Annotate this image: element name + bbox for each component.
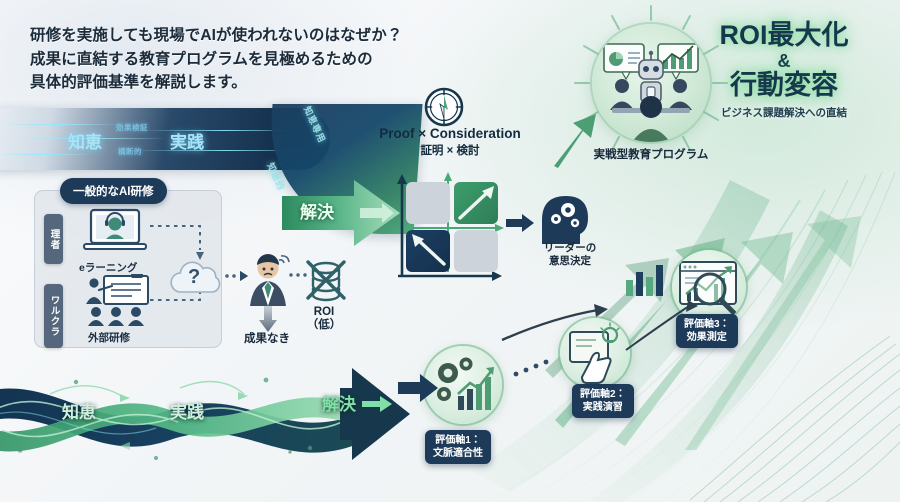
eval-axis-1-label-1: 評価軸1： [433,434,483,447]
tail-diagonal-label-1: 知恵専用 [301,104,329,145]
solve-label-lower: 解決 [322,390,356,415]
matrix-title-ja: 証明 × 検討 [365,142,535,158]
laptop-headset-icon [82,206,148,258]
arrow-to-program [552,112,598,168]
leader-caption-line-2: 意思決定 [524,255,616,268]
top-ribbon-word-practice: 実践 [170,128,204,153]
roi-low-coins-icon [302,256,350,304]
panel-row-caption-2: 外部研修 [88,330,130,345]
page-headline: 研修を実施しても現場でAIが使われないのはなぜか？ 成果に直結する教育プログラム… [30,24,460,95]
infographic-canvas: 研修を実施しても現場でAIが使われないのはなぜか？ 成果に直結する教育プログラム… [0,0,900,502]
eval-flow-arrows [398,300,698,420]
head-gears-icon [534,190,594,244]
top-ribbon-micro-label-1: 効果検証 [116,122,148,133]
panel-row-tag-1: 理者 [44,214,63,264]
bottom-right-fan-lines [690,330,900,502]
solve-lower-inline-arrow [362,396,392,412]
program-caption: 実戦型教育プログラム [584,146,718,162]
matrix-title: Proof × Consideration 証明 × 検討 [365,126,535,158]
no-result-label: 成果なき [244,330,290,346]
question-mark-symbol: ? [188,266,200,289]
bottom-ribbon-word-practice: 実践 [170,398,204,423]
compass-icon [423,86,465,128]
worried-person-icon [246,254,290,306]
eval-axis-1-label-2: 文脈適合性 [433,447,483,460]
matrix-trend-arrows [392,172,504,282]
leader-caption: リーダーの 意思決定 [524,242,616,268]
leader-caption-line-1: リーダーの [524,242,616,255]
panel-row-caption-1: eラーニング [79,260,137,275]
headline-line-1: 研修を実施しても現場でAIが使われないのはなぜか？ [30,24,460,48]
solve-label-upper: 解決 [300,198,334,223]
roi-low-text: ROI [298,306,350,319]
roi-low-value: （低） [298,319,350,332]
headline-line-2: 成果に直結する教育プログラムを見極めるための [30,48,460,72]
matrix-to-leader-arrow [506,214,534,232]
roi-low-label: ROI （低） [298,306,350,332]
headline-line-3: 具体的評価基準を解説します。 [30,71,460,95]
matrix-title-en: Proof × Consideration [365,126,535,141]
meeting-robot-icon [592,24,710,142]
bottom-ribbon-word-wisdom: 知恵 [62,398,96,423]
mini-bar-chart-icon [622,258,674,298]
classroom-whiteboard-icon [82,274,152,328]
generic-training-panel-title: 一般的なAI研修 [60,178,167,204]
proof-consideration-matrix [392,172,504,282]
downward-result-arrow [258,306,278,332]
panel-row-tag-2: ワルクラ [44,284,63,348]
top-ribbon-micro-label-2: 横断的 [118,146,142,157]
top-ribbon-word-wisdom: 知恵 [68,128,102,153]
